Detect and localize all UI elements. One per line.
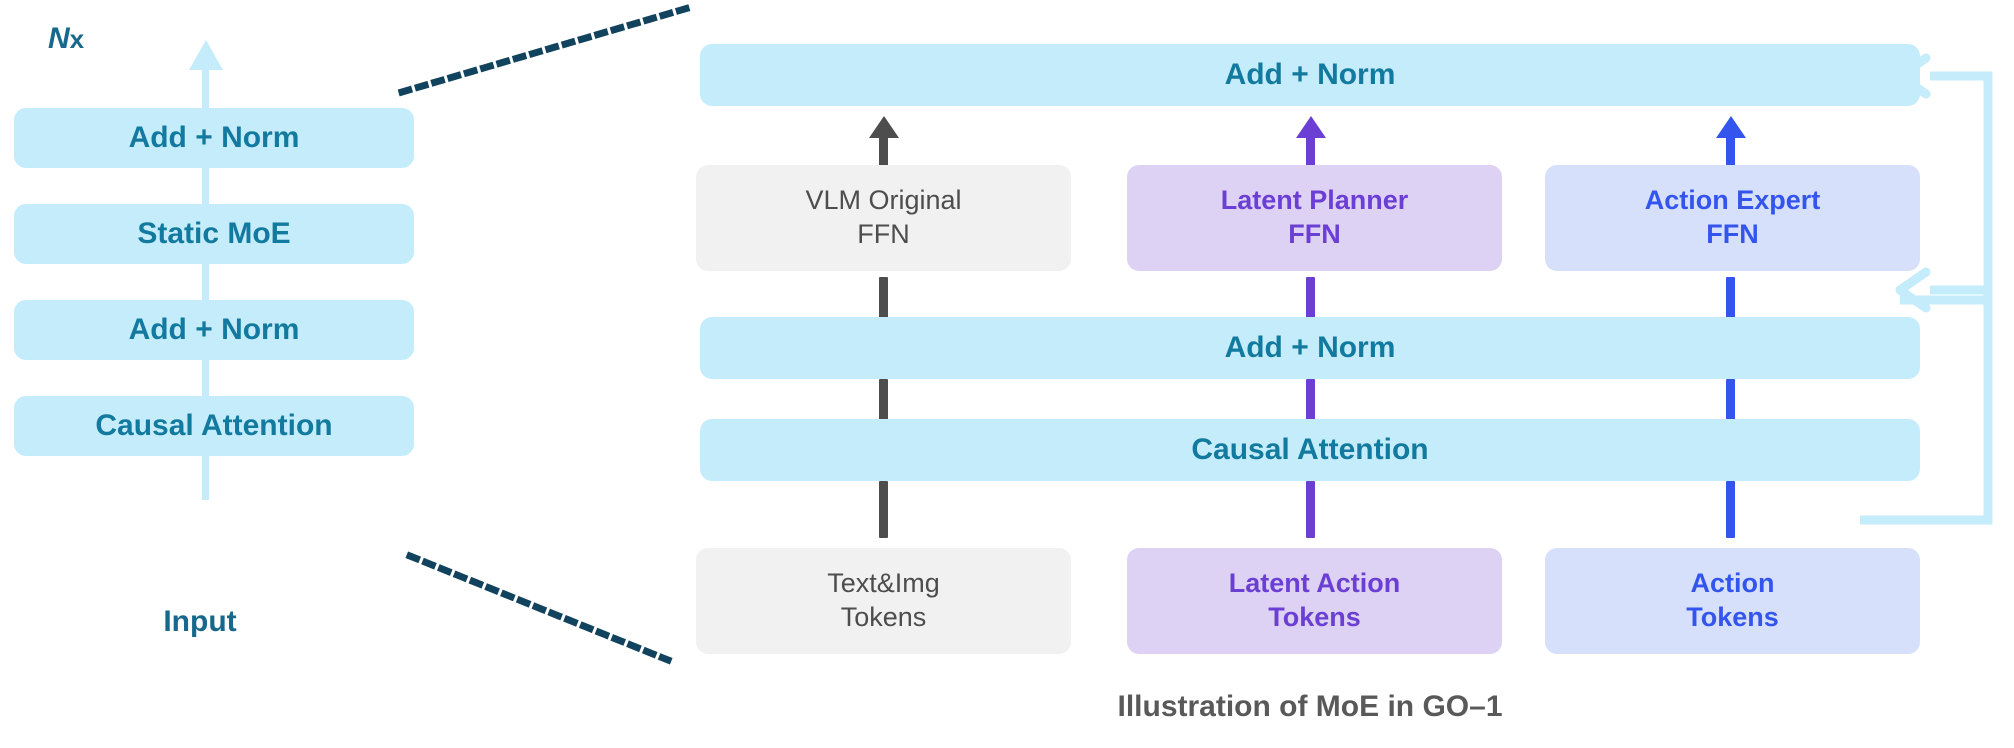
link-attention-to-addnorm-action: [1726, 379, 1735, 421]
left-block-add-norm-bottom[interactable]: Add + Norm: [14, 300, 414, 360]
zoom-connector-upper: [402, 8, 688, 92]
link-latent-action-tokens-to-attention: [1306, 481, 1315, 538]
link-addnorm-to-vlm-ffn: [879, 277, 888, 319]
link-attention-to-addnorm-latent: [1306, 379, 1315, 421]
zoom-connector-lower: [410, 556, 668, 660]
token-box-text-img-tokens[interactable]: Text&Img Tokens: [696, 548, 1071, 654]
right-bar-add-norm-top[interactable]: Add + Norm: [700, 44, 1920, 106]
token-box-latent-action-tokens[interactable]: Latent Action Tokens: [1127, 548, 1502, 654]
repeat-count-label: Nx: [48, 22, 84, 56]
arrow-up-vlm-icon: [869, 116, 899, 138]
link-attention-to-addnorm-vlm: [879, 379, 888, 421]
right-bar-causal-attention[interactable]: Causal Attention: [700, 419, 1920, 481]
right-bar-add-norm-mid[interactable]: Add + Norm: [700, 317, 1920, 379]
repeat-count-x: x: [70, 24, 84, 54]
left-block-add-norm-top[interactable]: Add + Norm: [14, 108, 414, 168]
left-connector-2: [202, 264, 209, 300]
left-block-static-moe[interactable]: Static MoE: [14, 204, 414, 264]
link-addnorm-to-latent-ffn: [1306, 277, 1315, 319]
left-connector-1: [202, 168, 209, 204]
left-connector-3: [202, 360, 209, 396]
expert-box-latent-planner-ffn[interactable]: Latent Planner FFN: [1127, 165, 1502, 271]
left-input-label: Input: [0, 605, 400, 639]
residual-arrowhead-lower: [1900, 272, 1926, 308]
token-box-action-tokens[interactable]: Action Tokens: [1545, 548, 1920, 654]
link-addnorm-to-action-ffn: [1726, 277, 1735, 319]
link-text-img-tokens-to-attention: [879, 481, 888, 538]
link-action-tokens-to-attention: [1726, 481, 1735, 538]
left-block-causal-attention[interactable]: Causal Attention: [14, 396, 414, 456]
arrow-up-latent-icon: [1296, 116, 1326, 138]
left-connector-top: [202, 66, 209, 108]
expert-box-action-expert-ffn[interactable]: Action Expert FFN: [1545, 165, 1920, 271]
figure-canvas: Nx Add + Norm Static MoE Add + Norm Caus…: [0, 0, 2014, 748]
expert-box-vlm-original-ffn[interactable]: VLM Original FFN: [696, 165, 1071, 271]
repeat-count-n: N: [48, 22, 70, 55]
left-connector-input: [202, 456, 209, 500]
arrow-up-action-icon: [1716, 116, 1746, 138]
figure-caption: Illustration of MoE in GO–1: [700, 690, 1920, 724]
